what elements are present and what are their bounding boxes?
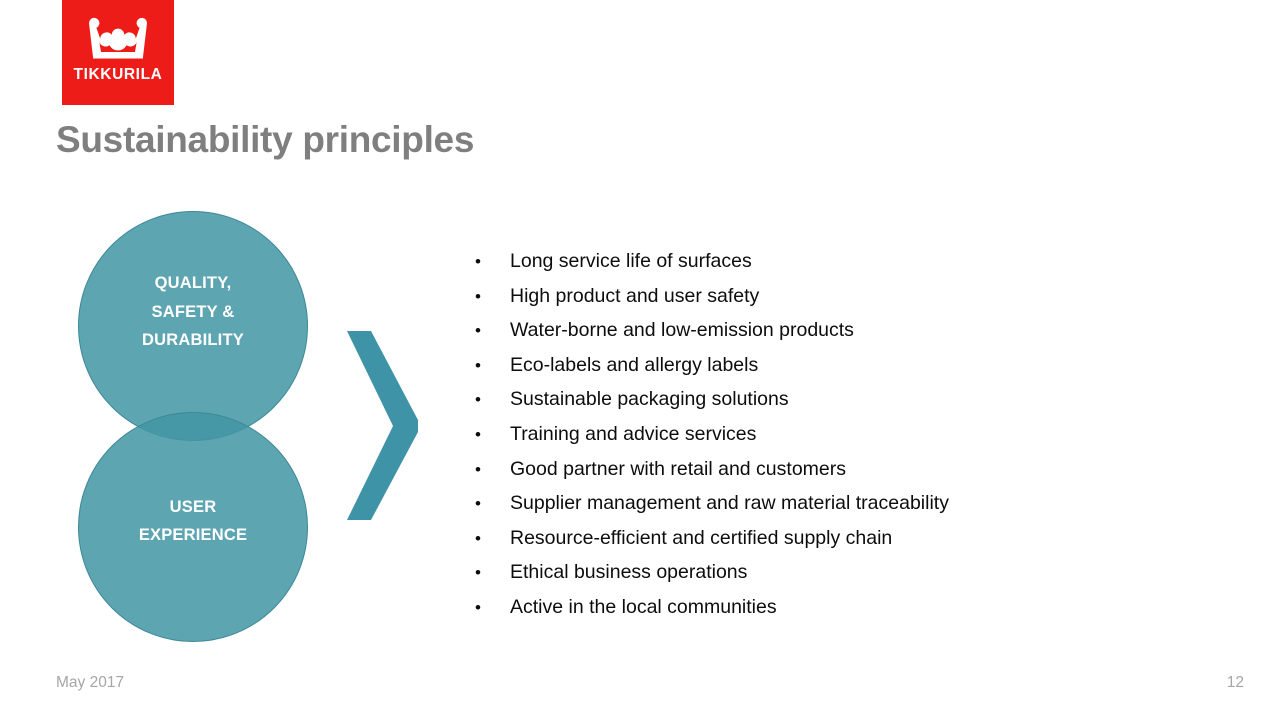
list-item: • Resource-efficient and certified suppl… xyxy=(464,521,1254,556)
list-item-text: Resource-efficient and certified supply … xyxy=(510,521,1254,556)
list-item-text: Training and advice services xyxy=(510,417,1254,452)
principles-list: • Long service life of surfaces • High p… xyxy=(464,244,1254,625)
list-item: • Eco-labels and allergy labels xyxy=(464,348,1254,383)
page-title: Sustainability principles xyxy=(56,119,474,161)
bullet-marker: • xyxy=(464,418,510,453)
list-item: • Long service life of surfaces xyxy=(464,244,1254,279)
list-item: • Good partner with retail and customers xyxy=(464,452,1254,487)
circle-user-experience-label: USER EXPERIENCE xyxy=(139,493,247,550)
crown-icon xyxy=(85,17,151,61)
bullet-marker: • xyxy=(464,314,510,349)
list-item-text: High product and user safety xyxy=(510,279,1254,314)
list-item-text: Water-borne and low-emission products xyxy=(510,313,1254,348)
list-item-text: Ethical business operations xyxy=(510,555,1254,590)
circle-quality-safety-durability[interactable]: QUALITY, SAFETY & DURABILITY xyxy=(78,211,308,441)
list-item: • Water-borne and low-emission products xyxy=(464,313,1254,348)
bullet-marker: • xyxy=(464,280,510,315)
list-item-text: Long service life of surfaces xyxy=(510,244,1254,279)
bullet-marker: • xyxy=(464,487,510,522)
list-item-text: Eco-labels and allergy labels xyxy=(510,348,1254,383)
bullet-marker: • xyxy=(464,556,510,591)
slide-canvas: TIKKURILA Sustainability principles QUAL… xyxy=(0,0,1280,720)
list-item-text: Sustainable packaging solutions xyxy=(510,382,1254,417)
bullet-marker: • xyxy=(464,591,510,626)
circle-user-experience[interactable]: USER EXPERIENCE xyxy=(78,412,308,642)
list-item-text: Active in the local communities xyxy=(510,590,1254,625)
bullet-marker: • xyxy=(464,522,510,557)
list-item: • High product and user safety xyxy=(464,279,1254,314)
footer-date: May 2017 xyxy=(56,674,124,692)
bullet-marker: • xyxy=(464,349,510,384)
sustainability-diagram: QUALITY, SAFETY & DURABILITY USER EXPERI… xyxy=(0,0,440,720)
footer-page-number: 12 xyxy=(1227,674,1244,692)
bullet-marker: • xyxy=(464,453,510,488)
list-item: • Supplier management and raw material t… xyxy=(464,486,1254,521)
list-item: • Sustainable packaging solutions xyxy=(464,382,1254,417)
bullet-marker: • xyxy=(464,245,510,280)
circle-quality-label: QUALITY, SAFETY & DURABILITY xyxy=(142,269,244,354)
chevron-right-icon xyxy=(340,322,426,528)
list-item: • Ethical business operations xyxy=(464,555,1254,590)
logo-wordmark: TIKKURILA xyxy=(74,67,163,83)
list-item: • Training and advice services xyxy=(464,417,1254,452)
list-item-text: Good partner with retail and customers xyxy=(510,452,1254,487)
bullet-marker: • xyxy=(464,383,510,418)
tikkurila-logo: TIKKURILA xyxy=(62,0,174,105)
list-item-text: Supplier management and raw material tra… xyxy=(510,486,1254,521)
list-item: • Active in the local communities xyxy=(464,590,1254,625)
